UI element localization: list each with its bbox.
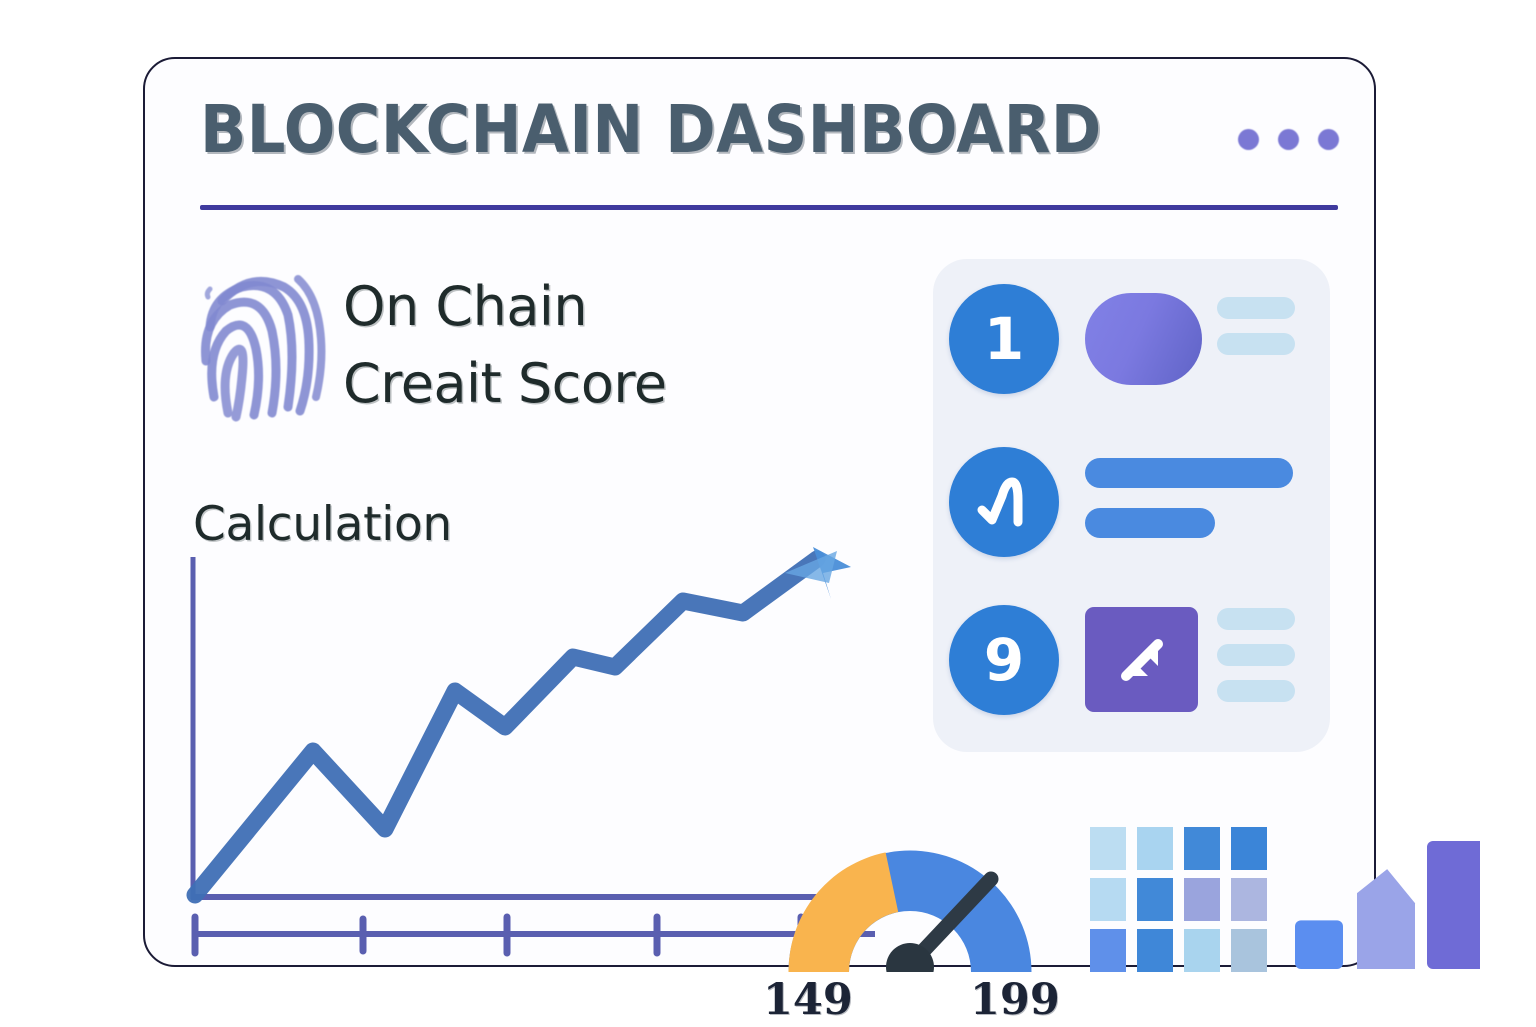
heatmap-cell-2-3 — [1184, 878, 1220, 921]
detail-card: 1 9 — [933, 259, 1330, 752]
diagonal-arrow-tile[interactable] — [1085, 607, 1198, 712]
window-controls[interactable] — [1238, 129, 1339, 150]
trend-arrow-head — [785, 547, 851, 599]
card-row-3[interactable]: 9 — [933, 602, 1330, 717]
card-row-1[interactable]: 1 — [933, 281, 1330, 396]
window-dot-3[interactable] — [1318, 129, 1339, 150]
placeholder-bars-row-1 — [1217, 297, 1295, 355]
heatmap-cell-1-2 — [1137, 827, 1173, 870]
placeholder-bar — [1085, 508, 1215, 538]
fingerprint-icon — [190, 257, 345, 432]
heatmap-cell-1-1 — [1090, 827, 1126, 870]
placeholder-bars-row-3 — [1217, 608, 1295, 702]
page-title: BLOCKCHAIN DASHBOARD — [200, 91, 1102, 168]
window-dot-1[interactable] — [1238, 129, 1259, 150]
diagonal-arrow-icon — [1106, 624, 1178, 696]
mini-bar-2 — [1357, 869, 1415, 969]
step-badge-2[interactable] — [949, 447, 1059, 557]
heatmap-cell-1-3 — [1184, 827, 1220, 870]
heatmap-cell-3-3 — [1184, 929, 1220, 972]
heatmap-cell-1-4 — [1231, 827, 1267, 870]
window-dot-2[interactable] — [1278, 129, 1299, 150]
gauge-label-max: 199 — [970, 975, 1060, 1025]
heatmap-cell-2-4 — [1231, 878, 1267, 921]
title-bar: BLOCKCHAIN DASHBOARD — [145, 59, 1374, 209]
card-row-2[interactable] — [933, 444, 1330, 559]
step-badge-1[interactable]: 1 — [949, 284, 1059, 394]
placeholder-bar — [1217, 644, 1295, 666]
placeholder-bar — [1217, 333, 1295, 355]
page-heading: On Chain Creait Score — [343, 269, 667, 422]
placeholder-bar — [1217, 608, 1295, 630]
heatmap-grid — [1090, 827, 1267, 972]
heatmap-cell-2-1 — [1090, 878, 1126, 921]
dashboard-window: BLOCKCHAIN DASHBOARD On Chain Creait — [143, 57, 1376, 967]
mini-bar-chart — [1295, 841, 1480, 969]
mini-bar-3 — [1427, 841, 1480, 969]
gauge-label-min: 149 — [763, 975, 853, 1025]
gauge-arc-warning — [788, 852, 898, 972]
placeholder-bar — [1085, 458, 1293, 488]
left-panel: On Chain Creait Score Calculation — [145, 209, 935, 969]
placeholder-bar — [1217, 297, 1295, 319]
heatmap-cell-2-2 — [1137, 878, 1173, 921]
heatmap-cell-3-2 — [1137, 929, 1173, 972]
heading-line-2: Creait Score — [343, 346, 667, 423]
step-badge-3[interactable]: 9 — [949, 605, 1059, 715]
heading-line-1: On Chain — [343, 269, 667, 346]
placeholder-bar — [1217, 680, 1295, 702]
gauge-arc — [745, 797, 1075, 972]
trend-check-icon — [972, 470, 1036, 534]
trend-line — [195, 559, 817, 895]
credit-score-gauge: 149 199 — [745, 797, 1075, 1027]
mini-bar-1 — [1295, 920, 1343, 969]
placeholder-bars-row-2 — [1085, 458, 1293, 538]
blob-shape-icon — [1085, 293, 1202, 385]
heatmap-cell-3-1 — [1090, 929, 1126, 972]
heatmap-cell-3-4 — [1231, 929, 1267, 972]
